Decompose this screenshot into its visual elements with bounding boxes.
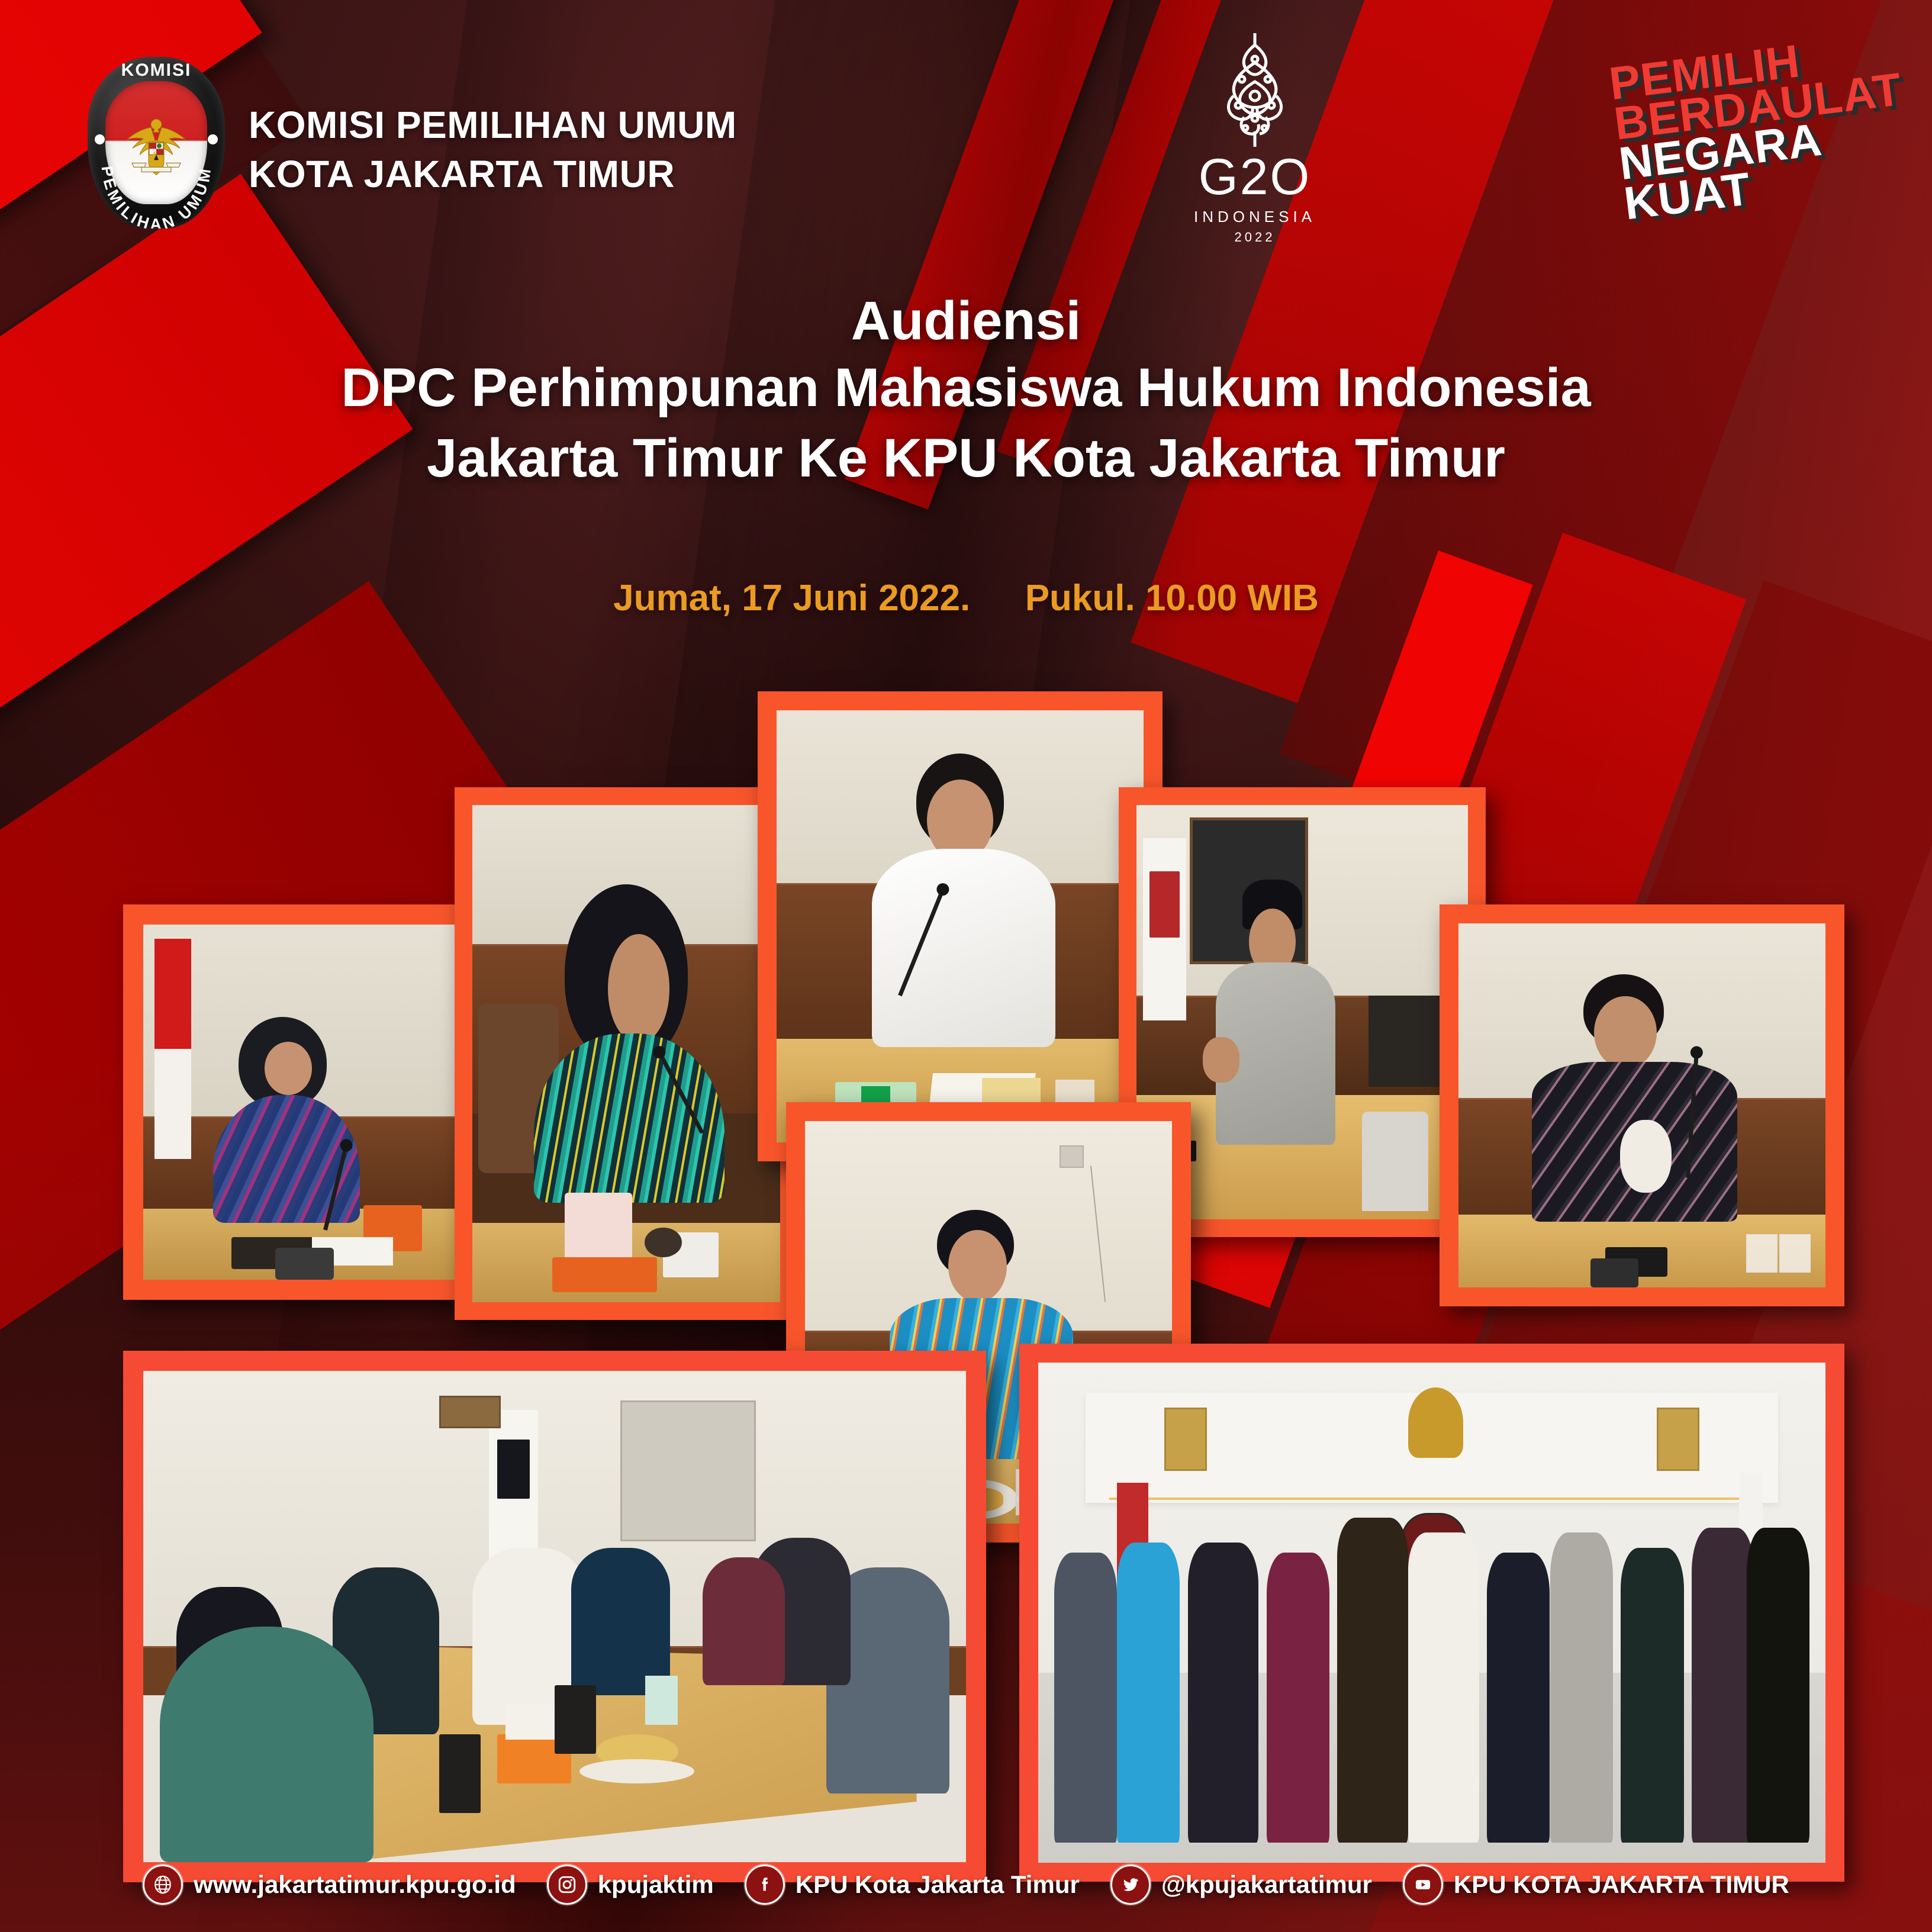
gallery-photo-frame[interactable]	[455, 787, 798, 1320]
footer-label-twitter: @kpujakartatimur	[1161, 1870, 1372, 1899]
organization-line-1: KOMISI PEMILIHAN UMUM	[249, 101, 737, 150]
title-line-1: Audiensi	[0, 290, 1932, 353]
photo-group-foto	[1038, 1363, 1825, 1863]
g20-country: INDONESIA	[1175, 208, 1335, 226]
gallery-photo-frame[interactable]	[1019, 1344, 1844, 1882]
footer-item-website[interactable]: www.jakartatimur.kpu.go.id	[143, 1865, 516, 1905]
g20-ornament-icon	[1202, 30, 1308, 151]
title-line-2: DPC Perhimpunan Mahasiswa Hukum Indonesi…	[0, 353, 1932, 424]
kpu-logo-curved-text: PEMILIHAN UMUM	[88, 57, 225, 228]
photo-scene	[472, 805, 780, 1302]
organization-name: KOMISI PEMILIHAN UMUM KOTA JAKARTA TIMUR	[249, 101, 737, 199]
footer-item-twitter[interactable]: @kpujakartatimur	[1110, 1865, 1372, 1905]
organization-line-2: KOTA JAKARTA TIMUR	[249, 150, 737, 199]
gallery-photo-frame[interactable]	[1440, 904, 1844, 1306]
event-datetime: Jumat, 17 Juni 2022. Pukul. 10.00 WIB	[0, 577, 1932, 619]
kpu-logo: KOMISI	[88, 57, 225, 228]
photo-woman-green-batik	[472, 805, 780, 1302]
facebook-icon	[745, 1865, 785, 1905]
event-title: Audiensi DPC Perhimpunan Mahasiswa Hukum…	[0, 290, 1932, 494]
footer-item-facebook[interactable]: KPU Kota Jakarta Timur	[745, 1865, 1080, 1905]
footer-social-bar: www.jakartatimur.kpu.go.id kpujaktim KPU…	[0, 1865, 1932, 1905]
footer-label-facebook: KPU Kota Jakarta Timur	[796, 1870, 1080, 1899]
footer-item-instagram[interactable]: kpujaktim	[547, 1865, 714, 1905]
gallery-photo-frame[interactable]	[123, 1351, 986, 1882]
photo-scene	[777, 710, 1144, 1142]
photo-scene	[143, 1371, 966, 1862]
youtube-icon	[1403, 1865, 1443, 1905]
g20-year: 2022	[1175, 230, 1335, 245]
footer-label-instagram: kpujaktim	[598, 1870, 714, 1899]
photo-meeting-room	[143, 1371, 966, 1862]
globe-icon	[143, 1865, 183, 1905]
event-date: Jumat, 17 Juni 2022.	[613, 578, 970, 619]
photo-man-dark-batik	[1458, 923, 1825, 1287]
gallery-photo-frame[interactable]	[758, 691, 1163, 1161]
footer-label-website: www.jakartatimur.kpu.go.id	[194, 1870, 516, 1899]
poster-canvas: KOMISI	[0, 0, 1932, 1932]
g20-wordmark: G2O	[1175, 153, 1335, 202]
title-line-3: Jakarta Timur Ke KPU Kota Jakarta Timur	[0, 423, 1932, 494]
footer-item-youtube[interactable]: KPU KOTA JAKARTA TIMUR	[1403, 1865, 1789, 1905]
g20-logo: G2O INDONESIA 2022	[1175, 30, 1335, 245]
event-time: Pukul. 10.00 WIB	[1025, 578, 1319, 619]
instagram-icon	[547, 1865, 587, 1905]
photo-scene	[1038, 1363, 1825, 1863]
photo-man-white-shirt	[777, 710, 1144, 1142]
footer-label-youtube: KPU KOTA JAKARTA TIMUR	[1454, 1870, 1789, 1899]
twitter-icon	[1110, 1865, 1151, 1905]
photo-scene	[1458, 923, 1825, 1287]
svg-text:PEMILIHAN UMUM: PEMILIHAN UMUM	[98, 165, 215, 228]
